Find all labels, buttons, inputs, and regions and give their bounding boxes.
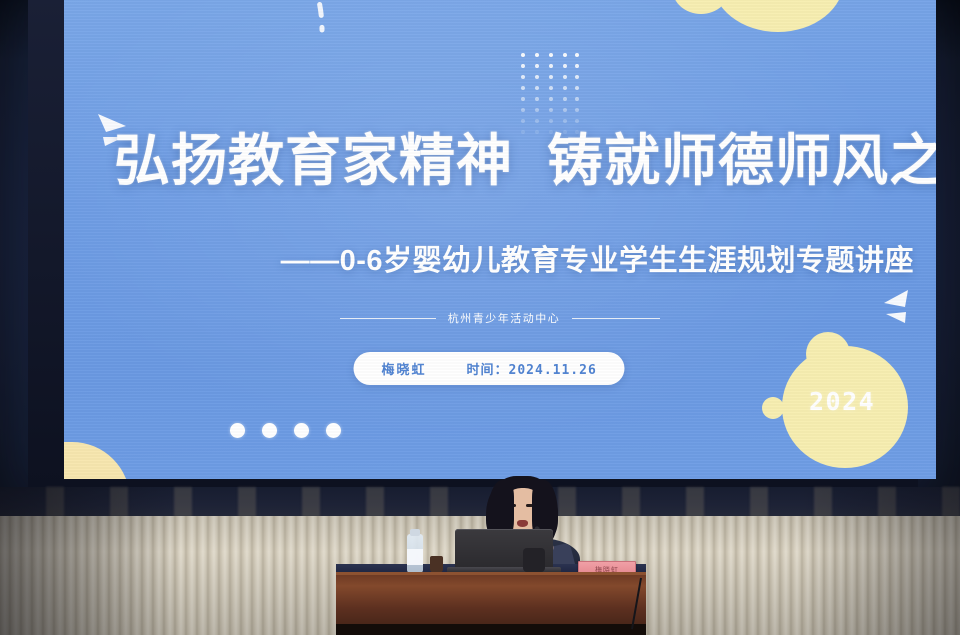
projection-screen-frame: 2024 bbox=[28, 0, 918, 490]
dot-row-decoration bbox=[230, 423, 341, 438]
yellow-blob-bottom-right-small bbox=[806, 332, 850, 376]
slide-subtitle: ——0-6岁婴幼儿教育专业学生生涯规划专题讲座 bbox=[281, 237, 914, 279]
speaker-info-pill: 梅晓虹 时间：2024.11.26 bbox=[353, 352, 624, 385]
dot-4 bbox=[326, 423, 341, 438]
yellow-blob-bottom-right-dot bbox=[762, 397, 784, 419]
speaker-name: 梅晓虹 bbox=[381, 359, 426, 378]
slide-title: 弘扬教育家精神铸就师德师风之魂 bbox=[114, 133, 914, 189]
wall-shadow-left bbox=[0, 487, 180, 635]
slide-title-part1: 弘扬教育家精神 bbox=[114, 129, 513, 192]
microphone-stand bbox=[523, 548, 545, 572]
organization-name: 杭州青少年活动中心 bbox=[448, 310, 561, 326]
yellow-quarter-circle-bottom-left bbox=[64, 442, 130, 479]
org-rule-left bbox=[340, 318, 436, 319]
lecture-date: 时间：2024.11.26 bbox=[467, 359, 597, 378]
water-bottle-cap bbox=[410, 529, 420, 536]
water-bottle-label bbox=[407, 549, 423, 565]
yellow-blob-top-right bbox=[712, 0, 844, 32]
presentation-slide: 2024 bbox=[64, 0, 936, 479]
auditorium-scene: 2024 bbox=[0, 0, 960, 635]
mug bbox=[430, 556, 443, 573]
slide-title-part2: 铸就师德师风之魂 bbox=[547, 129, 936, 192]
organization-line: 杭州青少年活动中心 bbox=[64, 310, 936, 326]
org-rule-right bbox=[572, 318, 660, 319]
presenter-mouth bbox=[517, 520, 528, 527]
dot-2 bbox=[262, 423, 277, 438]
dot-grid-decoration bbox=[519, 50, 581, 138]
year-badge: 2024 bbox=[809, 387, 875, 416]
wall-shadow-right bbox=[800, 487, 960, 635]
dot-3 bbox=[294, 423, 309, 438]
dot-1 bbox=[230, 423, 245, 438]
desk-base-shadow bbox=[336, 624, 646, 635]
